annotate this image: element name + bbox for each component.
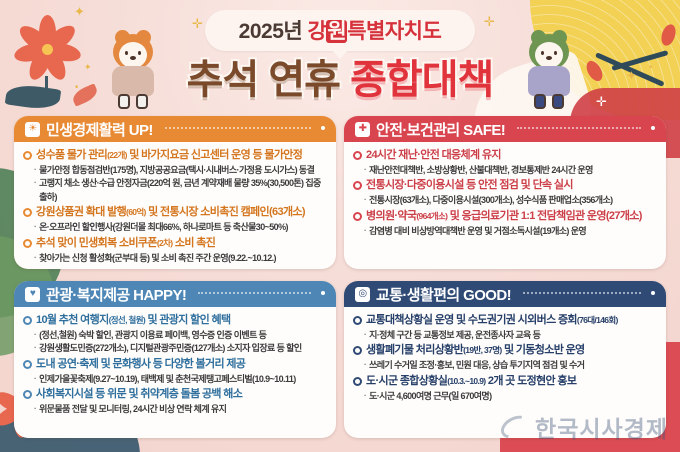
bullet-icon	[23, 208, 32, 217]
item-heading: 생활폐기물 처리상황반(19반, 37명) 및 기동청소반 운영	[353, 343, 657, 359]
bullet-icon	[353, 151, 362, 160]
sub-item-text: 감염병 대비 비상방역대책반 운영 및 거점소독시설(19개소) 운영	[369, 225, 586, 239]
item-heading-text: 도내 공연·축제 및 문화행사 등 다양한 볼거리 제공	[36, 357, 245, 373]
sub-item: ·위문물품 전달 및 모니터링, 24시간 비상 연락 체계 유지	[23, 403, 327, 417]
list-item: 교통대책상황실 운영 및 수도권기권 시외버스 증회(76대/146회) ·지·…	[353, 313, 657, 342]
mascot-eye-left	[541, 51, 544, 55]
sub-bullet: ·	[34, 177, 36, 190]
item-heading-main: 24시간 재난·안전 대응체계 유지	[366, 149, 501, 161]
header-end-dot	[321, 126, 325, 130]
section-title-tourism: 관광·복지제공 HAPPY!	[46, 284, 186, 305]
item-heading-main: 교통대책상황실 운영 및 수도권기권 시외버스 증회	[366, 314, 577, 326]
sub-item: ·감염병 대비 비상방역대책반 운영 및 거점소독시설(19개소) 운영	[353, 225, 657, 239]
sub-bullet: ·	[364, 225, 366, 238]
sub-bullet: ·	[364, 390, 366, 403]
item-heading-main: 추석 맞이 민생회복 소비쿠폰	[36, 237, 157, 249]
sub-item-text: 쓰레기 수거일 조정·홍보, 민원 대응, 상습 투기지역 점검 및 수거	[369, 359, 584, 373]
traffic-light-icon: ◎	[355, 287, 370, 302]
sub-bullet: ·	[364, 329, 366, 342]
bullet-icon	[23, 151, 32, 160]
sub-bullet: ·	[34, 252, 36, 265]
section-header-safety: ✚ 안전·보건관리 SAFE!	[344, 116, 666, 142]
list-item: 도내 공연·축제 및 문화행사 등 다양한 볼거리 제공 ·인제가을꽃축제(9.…	[23, 357, 327, 386]
sub-item: ·강원생활도민증(272개소), 디지털관광주민증(127개소) 소지자 입장료…	[23, 342, 327, 356]
item-heading-text: 교통대책상황실 운영 및 수도권기권 시외버스 증회(76대/146회)	[366, 313, 618, 329]
subtitle-year: 2025년	[239, 20, 308, 43]
sub-item: ·온·오프라인 할인행사(강원더몰 최대66%, 하나로마트 등 축산물30~5…	[23, 221, 327, 235]
mascot-leg-right	[136, 94, 148, 109]
item-heading-main: 병의원·약국	[366, 210, 416, 222]
mascot-leg-right	[552, 94, 564, 109]
item-heading-tail: 2개 곳 도정현안 홍보	[485, 375, 576, 387]
item-heading-main: 강원상품권 확대 발행	[36, 206, 126, 218]
sub-item-text: 인제가을꽃축제(9.27~10.19), 태백제 및 춘천국제탱고페스티벌(10…	[39, 373, 296, 387]
mascot-hanbok-body	[528, 66, 570, 96]
sub-item-text: 위문물품 전달 및 모니터링, 24시간 비상 연락 체계 유지	[39, 403, 226, 417]
item-heading-text: 병의원·약국(964개소) 및 응급의료기관 1:1 전담책임관 운영(27개소…	[366, 209, 642, 225]
poster-root: ✦ ✦ • ✛ ✦ • ✛ ✛ 20	[0, 0, 680, 452]
item-heading-main: 10월 추천 여행지	[36, 314, 109, 326]
mascot-face	[535, 42, 563, 68]
section-body-transport: 교통대책상황실 운영 및 수도권기권 시외버스 증회(76대/146회) ·지·…	[344, 307, 666, 411]
sub-item: ·재난안전대책반, 소방상황반, 산불대책반, 경보통제반 24시간 운영	[353, 164, 657, 178]
item-heading-main: 사회복지시설 등 위문 및 취약계층 돌봄 공백 해소	[36, 388, 242, 400]
item-heading-text: 사회복지시설 등 위문 및 취약계층 돌봄 공백 해소	[36, 387, 242, 403]
item-heading-tail: 및 바가지요금 신고센터 운영 등 물가안정	[127, 149, 302, 161]
item-heading-tail: 및 응급의료기관 1:1 전담책임관 운영(27개소)	[447, 210, 641, 222]
item-heading-tail: 소비 촉진	[172, 237, 215, 249]
sub-bullet: ·	[364, 164, 366, 177]
list-item: 전통시장·다중이용시설 등 안전 점검 및 단속 실시 ·전통시장(63개소),…	[353, 178, 657, 207]
header-end-dot	[321, 291, 325, 295]
item-heading-paren: (19반, 37명)	[463, 345, 501, 355]
section-card-transport: ◎ 교통·생활편의 GOOD! 교통대책상황실 운영 및 수도권기권 시외버스 …	[344, 281, 666, 438]
sub-item: ·도·시군 4,600여명 근무(일 670여명)	[353, 390, 657, 404]
item-heading-tail: 및 전통시장 소비촉진 캠페인(63개소)	[146, 206, 305, 218]
item-heading-main: 전통시장·다중이용시설 등 안전 점검 및 단속 실시	[366, 179, 573, 191]
list-item: 추석 맞이 민생회복 소비쿠폰(2차) 소비 촉진 ·찾아가는 신청 활성화(군…	[23, 236, 327, 265]
region-char-rest: 특별자치도	[347, 20, 441, 43]
item-heading-paren: (964개소)	[416, 211, 447, 221]
item-heading-paren: (22개)	[107, 150, 127, 160]
list-item: 사회복지시설 등 위문 및 취약계층 돌봄 공백 해소 ·위문물품 전달 및 모…	[23, 387, 327, 416]
section-card-economy: ☀ 민생경제활력 UP! 성수품 물가 관리(22개) 및 바가지요금 신고센터…	[14, 116, 336, 269]
list-item: 생활폐기물 처리상황반(19반, 37명) 및 기동청소반 운영 ·쓰레기 수거…	[353, 343, 657, 372]
header-end-dot	[651, 291, 655, 295]
subtitle-pill: 2025년 강원특별자치도	[205, 10, 476, 51]
bullet-icon	[353, 316, 362, 325]
subtitle-region: 강원특별자치도	[308, 20, 442, 43]
mascot-nose	[546, 56, 552, 60]
item-heading-main: 생활폐기물 처리상황반	[366, 344, 463, 356]
item-heading-paren: (2차)	[157, 238, 173, 248]
item-heading: 성수품 물가 관리(22개) 및 바가지요금 신고센터 운영 등 물가안정	[23, 148, 327, 164]
header-dotted-rule	[523, 292, 641, 294]
item-heading-text: 10월 추천 여행지(정선, 철원) 및 관광지 할인 혜택	[36, 313, 230, 329]
item-heading: 도내 공연·축제 및 문화행사 등 다양한 볼거리 제공	[23, 357, 327, 373]
item-heading: 강원상품권 확대 발행(60억) 및 전통시장 소비촉진 캠페인(63개소)	[23, 205, 327, 221]
sub-bullet: ·	[34, 373, 36, 386]
section-title-safety: 안전·보건관리 SAFE!	[376, 119, 505, 140]
sub-item-text: 도·시군 4,600여명 근무(일 670여명)	[369, 390, 491, 404]
item-heading-text: 강원상품권 확대 발행(60억) 및 전통시장 소비촉진 캠페인(63개소)	[36, 205, 305, 221]
sub-bullet: ·	[364, 359, 366, 372]
item-heading: 10월 추천 여행지(정선, 철원) 및 관광지 할인 혜택	[23, 313, 327, 329]
section-body-economy: 성수품 물가 관리(22개) 및 바가지요금 신고센터 운영 등 물가안정 ·물…	[14, 142, 336, 269]
section-body-safety: 24시간 재난·안전 대응체계 유지 ·재난안전대책반, 소방상황반, 산불대책…	[344, 142, 666, 246]
header-dotted-rule	[198, 292, 311, 294]
item-heading-text: 24시간 재난·안전 대응체계 유지	[366, 148, 501, 164]
region-char-2: 원	[326, 20, 347, 43]
mascot-leg-left	[118, 94, 130, 109]
sub-bullet: ·	[34, 342, 36, 355]
bullet-icon	[23, 390, 32, 399]
item-heading: 도·시군 종합상황실(10.3.~10.9) 2개 곳 도정현안 홍보	[353, 374, 657, 390]
lightbulb-icon: ☀	[25, 122, 40, 137]
sub-bullet: ·	[34, 329, 36, 342]
sub-bullet: ·	[364, 194, 366, 207]
sub-bullet: ·	[34, 221, 36, 234]
item-heading: 교통대책상황실 운영 및 수도권기권 시외버스 증회(76대/146회)	[353, 313, 657, 329]
sub-item: ·(정선,철원) 숙박 할인, 관광지 이용료 페이백, 영수증 인증 이벤트 …	[23, 329, 327, 343]
list-item: 강원상품권 확대 발행(60억) 및 전통시장 소비촉진 캠페인(63개소) ·…	[23, 205, 327, 234]
sub-item-text: 온·오프라인 할인행사(강원더몰 최대66%, 하나로마트 등 축산물30~50…	[39, 221, 288, 235]
item-heading-main: 도내 공연·축제 및 문화행사 등 다양한 볼거리 제공	[36, 358, 245, 370]
bullet-icon	[23, 316, 32, 325]
sub-item: ·물가안정 합동점검반(175명), 지방공공요금(택시·시내버스·가정용 도시…	[23, 164, 327, 178]
header-dotted-rule	[165, 127, 311, 129]
bullet-icon	[353, 212, 362, 221]
section-header-economy: ☀ 민생경제활력 UP!	[14, 116, 336, 142]
bullet-icon	[353, 346, 362, 355]
item-heading-text: 추석 맞이 민생회복 소비쿠폰(2차) 소비 촉진	[36, 236, 215, 252]
medical-cross-icon: ✚	[355, 122, 370, 137]
bullet-icon	[353, 181, 362, 190]
list-item: 10월 추천 여행지(정선, 철원) 및 관광지 할인 혜택 ·(정선,철원) …	[23, 313, 327, 356]
section-card-safety: ✚ 안전·보건관리 SAFE! 24시간 재난·안전 대응체계 유지 ·재난안전…	[344, 116, 666, 269]
orange-bear-mascot	[106, 32, 160, 112]
title-block: 2025년 강원특별자치도 추석 연휴 종합대책	[0, 10, 680, 100]
sub-item-text: 강원생활도민증(272개소), 디지털관광주민증(127개소) 소지자 입장료 …	[39, 342, 301, 356]
sub-item: ·인제가을꽃축제(9.27~10.19), 태백제 및 춘천국제탱고페스티벌(1…	[23, 373, 327, 387]
sub-item: ·고랭지 채소 생산·수급 안정자금(220억 원, 금년 계약재배 물량 35…	[23, 177, 327, 204]
section-header-tourism: ♥ 관광·복지제공 HAPPY!	[14, 281, 336, 307]
item-heading-main: 도·시군 종합상황실	[366, 375, 447, 387]
mascot-hanbok-body	[112, 66, 154, 96]
sub-item-text: 고랭지 채소 생산·수급 안정자금(220억 원, 금년 계약재배 물량 35%…	[39, 177, 327, 204]
sub-item: ·지·정체 구간 등 교통정보 제공, 운전종사자 교육 등	[353, 329, 657, 343]
sub-item-text: (정선,철원) 숙박 할인, 관광지 이용료 페이백, 영수증 인증 이벤트 등	[39, 329, 266, 343]
item-heading-tail: 및 기동청소반 운영	[502, 344, 585, 356]
green-bear-mascot	[522, 32, 576, 112]
mascot-face	[119, 42, 147, 68]
item-heading-tail: 및 관광지 할인 혜택	[145, 314, 230, 326]
sub-item-text: 찾아가는 신청 활성화(군부대 등) 및 소비 촉진 주간 운영(9.22.~1…	[39, 252, 276, 266]
header-end-dot	[651, 126, 655, 130]
item-heading-paren: (정선, 철원)	[109, 315, 145, 325]
sub-item: ·쓰레기 수거일 조정·홍보, 민원 대응, 상습 투기지역 점검 및 수거	[353, 359, 657, 373]
heart-hands-icon: ♥	[25, 287, 40, 302]
sub-bullet: ·	[34, 164, 36, 177]
sub-item-text: 재난안전대책반, 소방상황반, 산불대책반, 경보통제반 24시간 운영	[369, 164, 593, 178]
sub-item: ·찾아가는 신청 활성화(군부대 등) 및 소비 촉진 주간 운영(9.22.~…	[23, 252, 327, 266]
section-title-transport: 교통·생활편의 GOOD!	[376, 284, 511, 305]
item-heading-text: 성수품 물가 관리(22개) 및 바가지요금 신고센터 운영 등 물가안정	[36, 148, 302, 164]
item-heading: 24시간 재난·안전 대응체계 유지	[353, 148, 657, 164]
mascot-nose	[130, 56, 136, 60]
item-heading-main: 성수품 물가 관리	[36, 149, 107, 161]
bullet-icon	[23, 360, 32, 369]
list-item: 24시간 재난·안전 대응체계 유지 ·재난안전대책반, 소방상황반, 산불대책…	[353, 148, 657, 177]
item-heading: 사회복지시설 등 위문 및 취약계층 돌봄 공백 해소	[23, 387, 327, 403]
list-item: 도·시군 종합상황실(10.3.~10.9) 2개 곳 도정현안 홍보 ·도·시…	[353, 374, 657, 403]
sub-item-text: 전통시장(63개소), 다중이용시설(300개소), 성수식품 판매업소(356…	[369, 194, 612, 208]
item-heading: 추석 맞이 민생회복 소비쿠폰(2차) 소비 촉진	[23, 236, 327, 252]
item-heading-paren: (10.3.~10.9)	[447, 376, 485, 386]
item-heading-text: 전통시장·다중이용시설 등 안전 점검 및 단속 실시	[366, 178, 573, 194]
section-header-transport: ◎ 교통·생활편의 GOOD!	[344, 281, 666, 307]
section-card-tourism: ♥ 관광·복지제공 HAPPY! 10월 추천 여행지(정선, 철원) 및 관광…	[14, 281, 336, 438]
mascot-eye-right	[138, 51, 141, 55]
item-heading-paren: (76대/146회)	[577, 315, 618, 325]
item-heading-paren: (60억)	[126, 207, 146, 217]
page-title: 추석 연휴 종합대책	[0, 60, 680, 100]
bullet-icon	[353, 377, 362, 386]
header-dotted-rule	[517, 127, 641, 129]
section-title-economy: 민생경제활력 UP!	[46, 119, 153, 140]
item-heading-text: 도·시군 종합상황실(10.3.~10.9) 2개 곳 도정현안 홍보	[366, 374, 576, 390]
mascot-eye-left	[125, 51, 128, 55]
list-item: 병의원·약국(964개소) 및 응급의료기관 1:1 전담책임관 운영(27개소…	[353, 209, 657, 238]
list-item: 성수품 물가 관리(22개) 및 바가지요금 신고센터 운영 등 물가안정 ·물…	[23, 148, 327, 204]
title-part-1: 추석 연휴	[187, 58, 350, 102]
sub-item-text: 지·정체 구간 등 교통정보 제공, 운전종사자 교육 등	[369, 329, 540, 343]
bullet-icon	[23, 239, 32, 248]
mascot-eye-right	[554, 51, 557, 55]
item-heading-text: 생활폐기물 처리상황반(19반, 37명) 및 기동청소반 운영	[366, 343, 585, 359]
sub-item: ·전통시장(63개소), 다중이용시설(300개소), 성수식품 판매업소(35…	[353, 194, 657, 208]
mascot-leg-left	[534, 94, 546, 109]
item-heading: 전통시장·다중이용시설 등 안전 점검 및 단속 실시	[353, 178, 657, 194]
region-char-1: 강	[308, 20, 327, 43]
section-body-tourism: 10월 추천 여행지(정선, 철원) 및 관광지 할인 혜택 ·(정선,철원) …	[14, 307, 336, 425]
title-part-2: 종합대책	[350, 58, 493, 102]
item-heading: 병의원·약국(964개소) 및 응급의료기관 1:1 전담책임관 운영(27개소…	[353, 209, 657, 225]
sub-item-text: 물가안정 합동점검반(175명), 지방공공요금(택시·시내버스·가정용 도시가…	[39, 164, 314, 178]
sub-bullet: ·	[34, 403, 36, 416]
